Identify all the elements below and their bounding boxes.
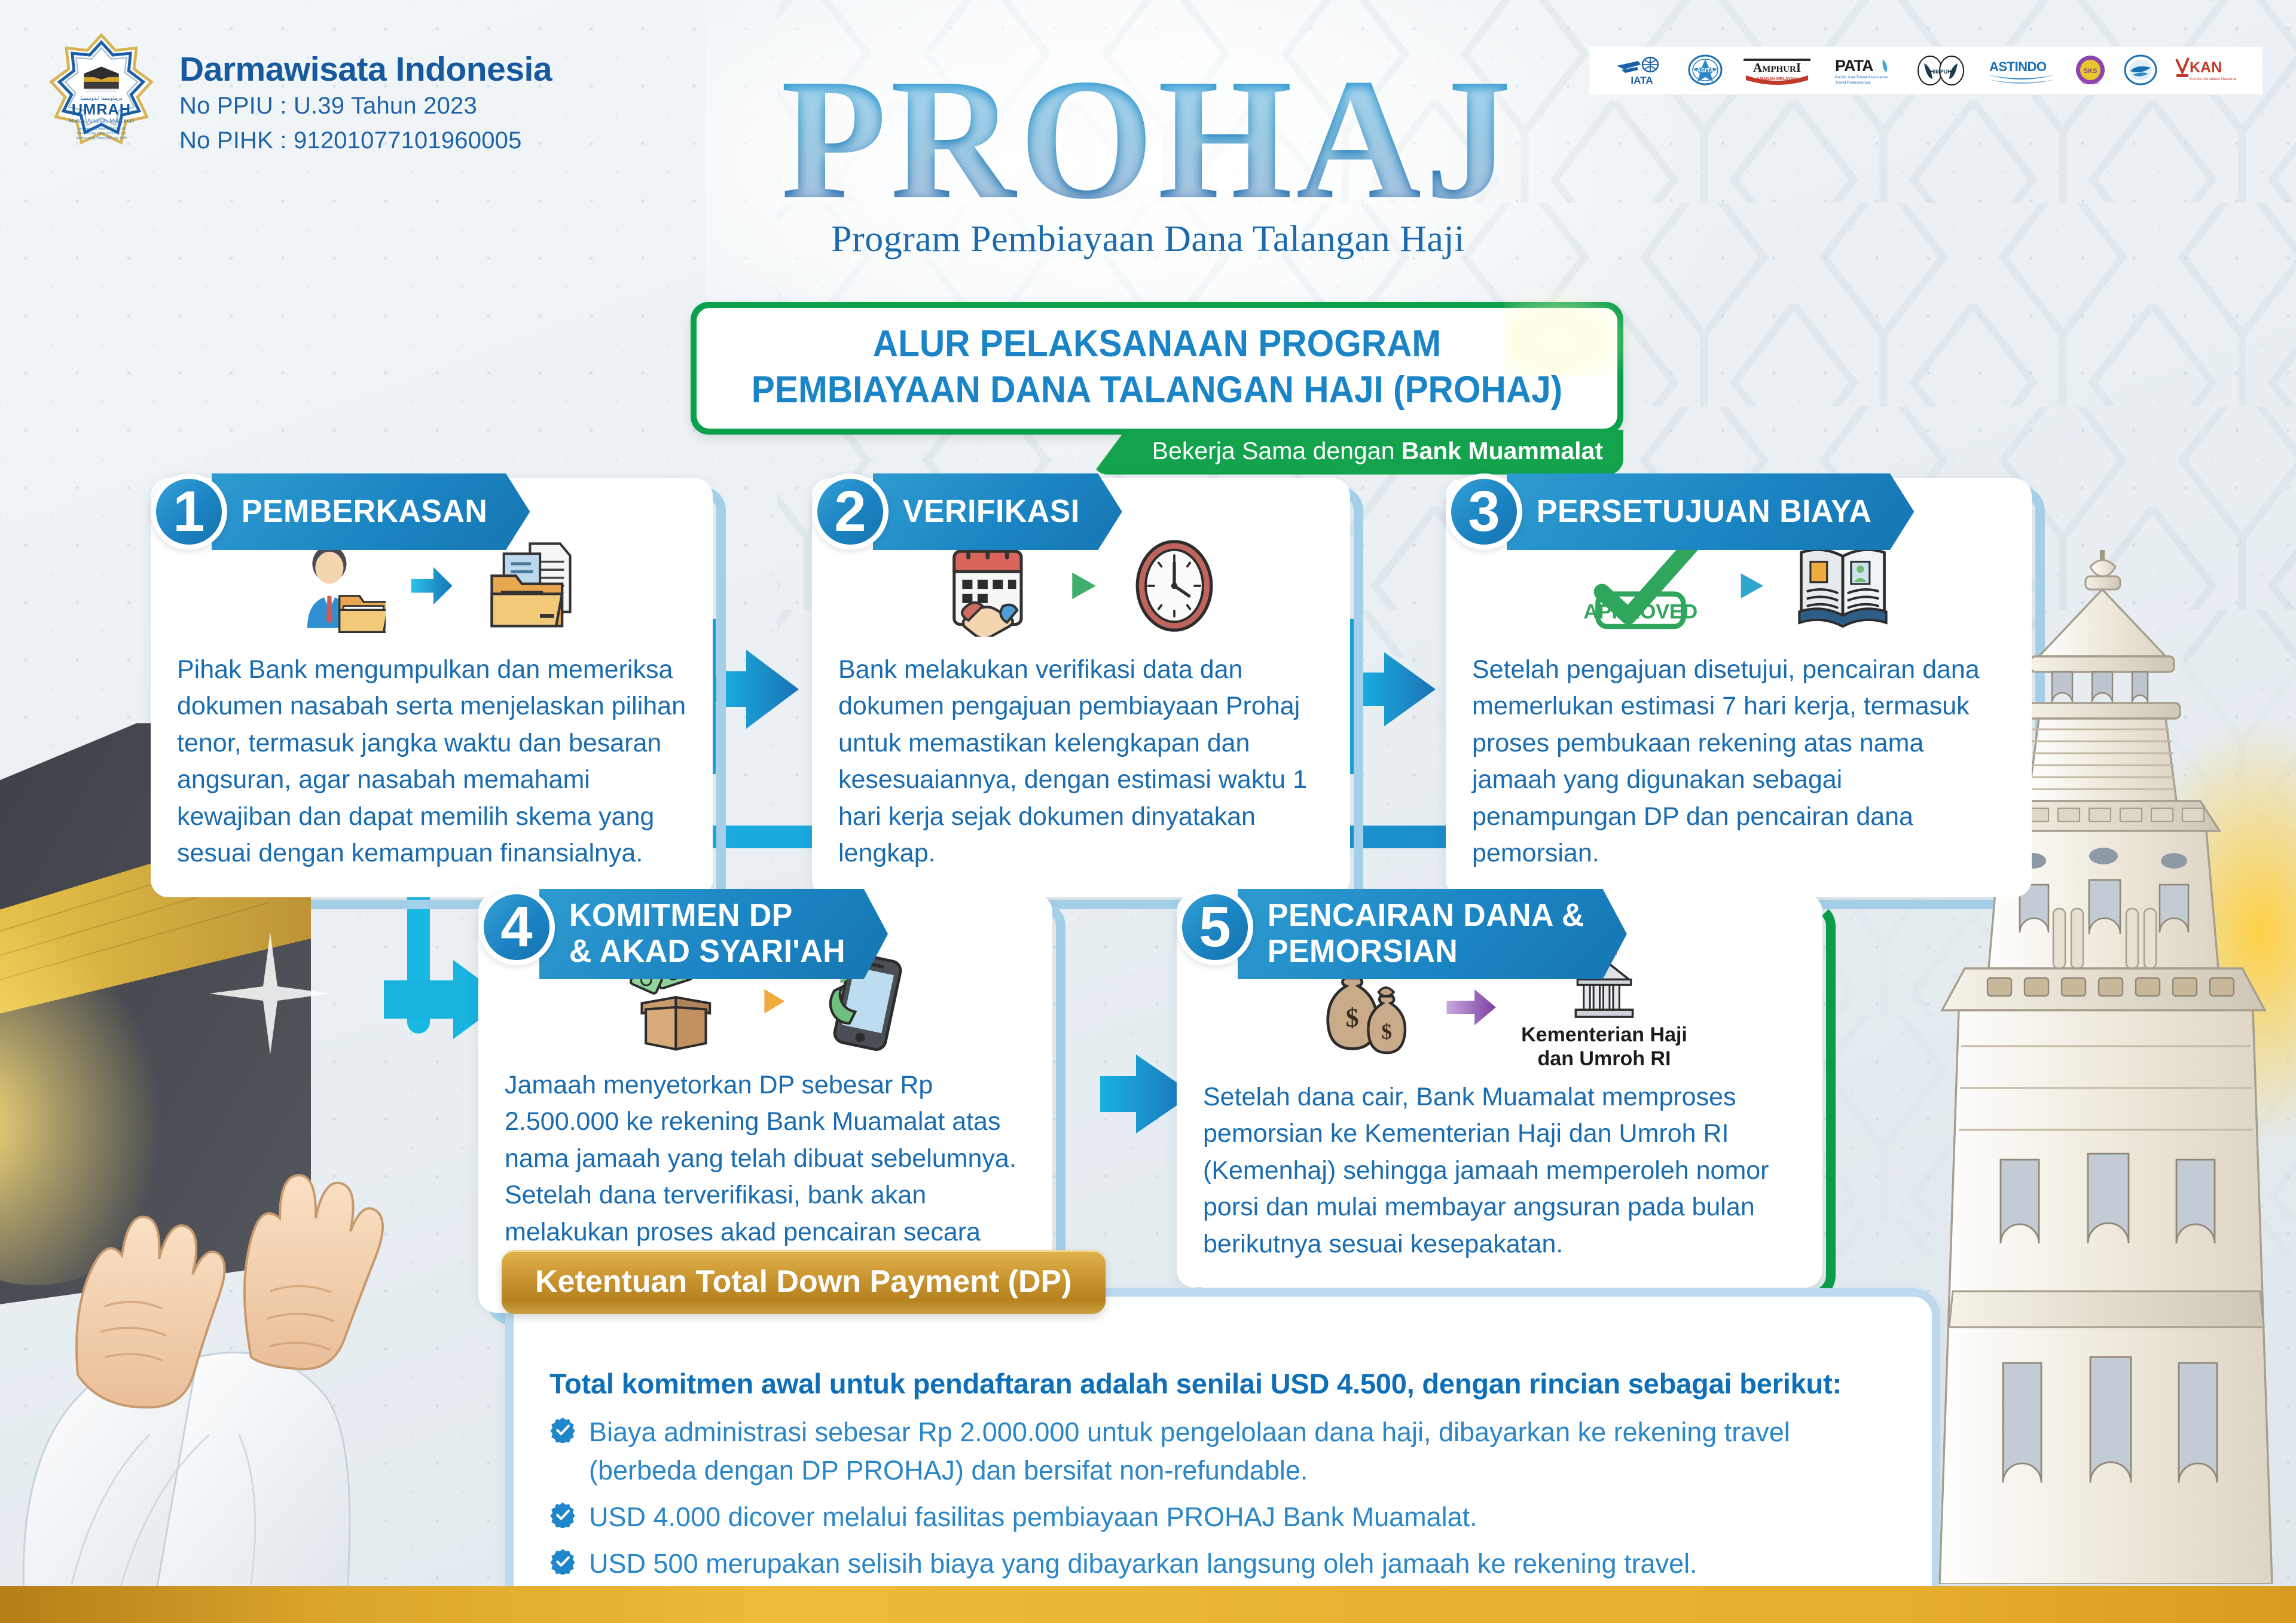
step-4-title-line-2: & AKAD SYARI'AH: [569, 933, 845, 969]
step-2-description: Bank melakukan verifikasi data dan dokum…: [838, 652, 1324, 872]
ministry-label-line-2: dan Umroh RI: [1521, 1047, 1687, 1071]
step-1-description: Pihak Bank mengumpulkan dan memeriksa do…: [177, 652, 686, 872]
page-title: PROHAJ: [0, 57, 2296, 222]
step-1-header[interactable]: 1 PEMBERKASAN: [151, 473, 544, 550]
step-5-number: 5: [1177, 889, 1253, 965]
step-5: 5 PENCAIRAN DANA & PEMORSIAN $ $: [1177, 894, 1822, 1288]
arrow-right-icon: [406, 560, 457, 612]
step-2-title: VERIFIKASI: [873, 473, 1122, 550]
bank-partner-tab: Bekerja Sama dengan Bank Muammalat: [1092, 430, 1623, 475]
step-5-header[interactable]: 5 PENCAIRAN DANA & PEMORSIAN: [1177, 889, 1643, 979]
step-3-title: PERSETUJUAN BIAYA: [1507, 473, 1914, 550]
step-5-title-line-1: PENCAIRAN DANA &: [1268, 897, 1584, 933]
step-5-title-line-2: PEMORSIAN: [1268, 933, 1584, 969]
step-5-description: Setelah dana cair, Bank Muamalat mempros…: [1203, 1079, 1796, 1263]
bank-partner-prefix: Bekerja Sama dengan: [1152, 437, 1402, 464]
step-5-title: PENCAIRAN DANA & PEMORSIAN: [1238, 889, 1627, 979]
open-book-icon: [1792, 535, 1894, 637]
step-2-header[interactable]: 2 VERIFIKASI: [812, 473, 1132, 550]
bank-partner-name: Bank Muammalat: [1402, 437, 1603, 464]
step-2: 2 VERIFIKASI: [812, 478, 1350, 897]
infographic-canvas: درماويستا اندونيسيا UMRAH Mudah, Amanah,…: [0, 0, 2296, 1623]
dp-lead-text: Total komitmen awal untuk pendaftaran ad…: [549, 1367, 1896, 1400]
step-4-number: 4: [478, 889, 555, 965]
calendar-handshake-icon: [940, 535, 1042, 637]
approved-check-icon: APPROVED: [1584, 535, 1709, 637]
check-badge-icon: [549, 1417, 576, 1443]
dp-list-item: USD 500 merupakan selisih biaya yang dib…: [549, 1545, 1896, 1583]
check-badge-icon: [549, 1502, 576, 1528]
step-3-number: 3: [1446, 473, 1522, 550]
arrow-right-icon: [1443, 983, 1501, 1031]
dp-item-list: Biaya administrasi sebesar Rp 2.000.000 …: [549, 1413, 1896, 1583]
documents-folder-icon: [478, 536, 578, 636]
dp-item-text: USD 4.000 dicover melalui fasilitas pemb…: [589, 1498, 1477, 1536]
step-1: 1 PEMBERKASAN: [151, 478, 713, 897]
step-1-title: PEMBERKASAN: [212, 473, 530, 550]
banner-line-1: ALUR PELAKSANAAN PROGRAM: [751, 321, 1563, 367]
bottom-gold-bar: [0, 1586, 2296, 1623]
dp-item-text: USD 500 merupakan selisih biaya yang dib…: [589, 1545, 1697, 1583]
svg-text:APPROVED: APPROVED: [1584, 600, 1697, 623]
arrow-right-icon: [1730, 565, 1772, 607]
program-flow-banner: ALUR PELAKSANAAN PROGRAM PEMBIAYAAN DANA…: [691, 302, 1623, 435]
arrow-right-icon: [1062, 564, 1106, 608]
step-4-title-line-1: KOMITMEN DP: [569, 897, 845, 933]
banner-line-2: PEMBIAYAAN DANA TALANGAN HAJI (PROHAJ): [751, 367, 1563, 413]
officer-with-folder-icon: [285, 536, 386, 636]
dp-item-text: Biaya administrasi sebesar Rp 2.000.000 …: [589, 1413, 1896, 1490]
step-3-description: Setelah pengajuan disetujui, pencairan d…: [1472, 652, 2005, 872]
clock-icon: [1126, 535, 1222, 637]
check-badge-icon: [549, 1548, 576, 1575]
step-3-header[interactable]: 3 PERSETUJUAN BIAYA: [1446, 473, 1931, 550]
dp-section-badge: Ketentuan Total Down Payment (DP): [502, 1250, 1106, 1314]
page-subtitle: Program Pembiayaan Dana Talangan Haji: [0, 218, 2296, 261]
ministry-label-line-1: Kementerian Haji: [1521, 1023, 1687, 1047]
step-3: 3 PERSETUJUAN BIAYA APPROVED: [1446, 478, 2032, 897]
svg-text:$: $: [1381, 1019, 1392, 1043]
step-4-header[interactable]: 4 KOMITMEN DP & AKAD SYARI'AH: [478, 889, 902, 979]
step-1-number: 1: [151, 473, 227, 550]
step-2-number: 2: [812, 473, 889, 550]
dp-list-item: Biaya administrasi sebesar Rp 2.000.000 …: [549, 1413, 1896, 1490]
main-title-block: PROHAJ Program Pembiayaan Dana Talangan …: [0, 57, 2296, 261]
step-4-title: KOMITMEN DP & AKAD SYARI'AH: [539, 889, 888, 979]
svg-text:$: $: [1346, 1003, 1359, 1032]
dp-list-item: USD 4.000 dicover melalui fasilitas pemb…: [549, 1498, 1896, 1536]
down-payment-section: Ketentuan Total Down Payment (DP) Total …: [505, 1288, 1940, 1623]
arrow-right-icon: [752, 981, 793, 1022]
